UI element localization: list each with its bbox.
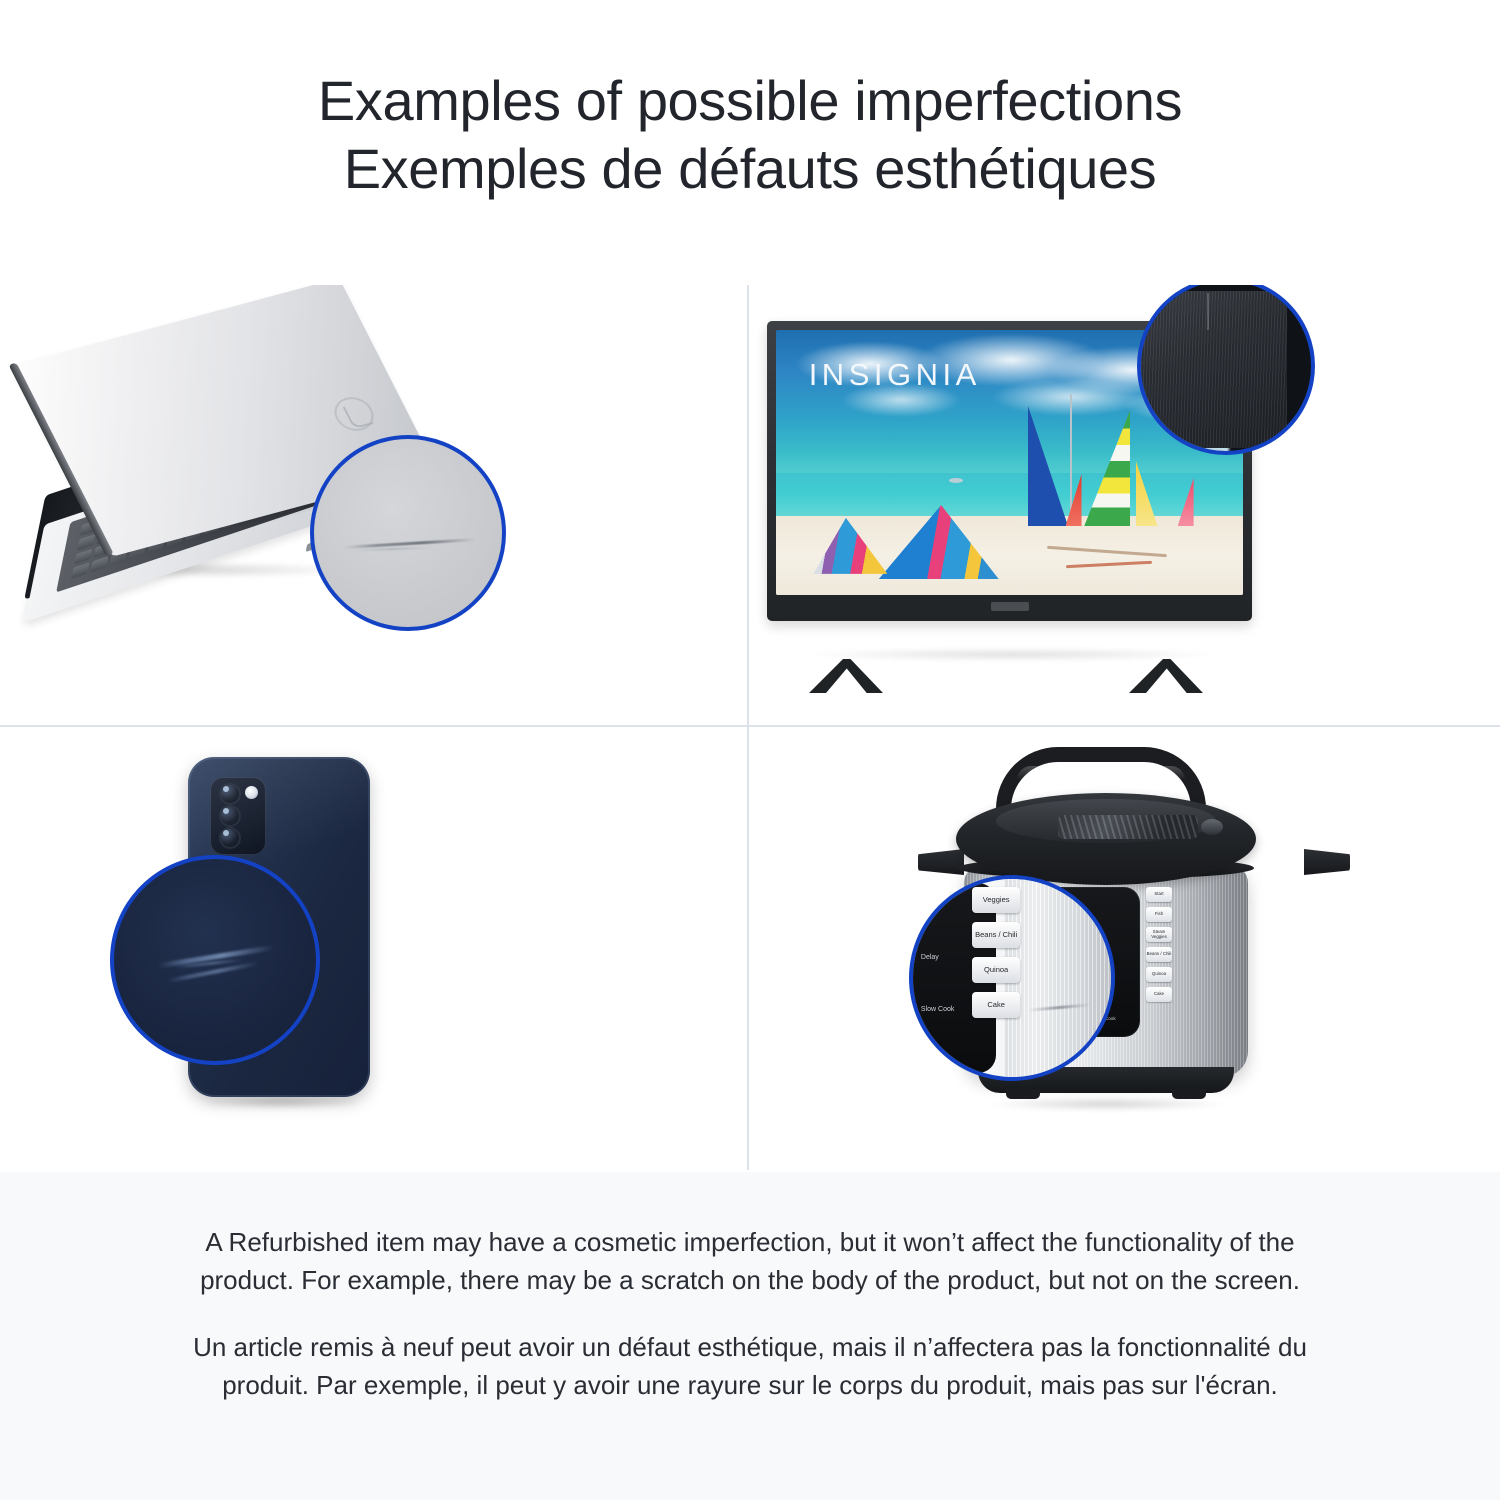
cooker-magnified-label-slow-cook: Slow Cook (921, 1006, 954, 1013)
page-header: Examples of possible imperfections Exemp… (0, 0, 1500, 270)
page-title-en: Examples of possible imperfections (318, 67, 1182, 135)
cooker-magnified-button-beans-chili[interactable]: Beans / Chili (972, 922, 1020, 948)
cooker-side-ear-right (1304, 849, 1350, 875)
cooker-right-button-column: Start Fish Steam Veggies Beans / Chili Q… (1146, 887, 1172, 1002)
magnifier-tv-bezel (1137, 285, 1315, 455)
magnifier-cooker-scratch: Delay Slow Cook Veggies Beans / Chili Qu… (909, 875, 1115, 1081)
camera-lens-1-icon (219, 783, 241, 805)
tv-magnified-bezel-corner (1137, 291, 1287, 447)
examples-grid: INSIGNIA (0, 285, 1500, 1170)
disclaimer-en: A Refurbished item may have a cosmetic i… (185, 1224, 1315, 1299)
cooker-lid-dome (996, 799, 1216, 843)
cell-pressure-cooker: Cancel Rice Multi Grain Soup Slow Cook P… (749, 727, 1500, 1170)
cooker-feet (1006, 1089, 1206, 1099)
disclaimer-fr: Un article remis à neuf peut avoir un dé… (185, 1329, 1315, 1404)
magnifier-phone-scratches (110, 855, 320, 1065)
tv-shadow (807, 648, 1217, 661)
cooker-magnified-label-delay: Delay (921, 954, 939, 961)
tv-sail-foreground-blue (879, 505, 999, 579)
tv-sail-pink (1178, 478, 1194, 526)
tv-foot-right (1129, 659, 1203, 693)
cooker-button-start[interactable]: Start (1146, 887, 1172, 902)
cell-laptop (0, 285, 747, 725)
tv-foot-left (809, 659, 883, 693)
tv-sail-yellow (1136, 460, 1158, 526)
cooker-button-cake[interactable]: Cake (1146, 987, 1172, 1002)
tv-sail-red (1066, 474, 1082, 526)
cooker-shadow (989, 1097, 1224, 1111)
cooker-lid-vent-plate (1058, 815, 1198, 839)
cell-smartphone (0, 727, 747, 1170)
cooker-magnified-button-quinoa[interactable]: Quinoa (972, 957, 1020, 983)
phone-shadow (202, 1095, 360, 1109)
cooker-button-beans-chili[interactable]: Beans / Chili (1146, 947, 1172, 962)
camera-lens-3-icon (219, 827, 241, 849)
cooker-magnified-button-veggies[interactable]: Veggies (972, 887, 1020, 913)
cooker-pressure-valve-icon (1201, 819, 1223, 835)
cooker-magnified-button-column: Veggies Beans / Chili Quinoa Cake (972, 887, 1020, 1018)
phone-camera-module (210, 777, 266, 855)
phone-stage (0, 727, 747, 1170)
cooker-stage: Cancel Rice Multi Grain Soup Slow Cook P… (749, 727, 1500, 1170)
tv-brand-logo: INSIGNIA (809, 357, 981, 393)
cooker-lid (956, 793, 1256, 885)
refurbished-imperfections-infographic: Examples of possible imperfections Exemp… (0, 0, 1500, 1500)
cell-television: INSIGNIA (749, 285, 1496, 725)
tv-sail-foreground-multi (813, 518, 887, 574)
cooker-button-steam-veggies[interactable]: Steam Veggies (1146, 927, 1172, 942)
tv-scene-sea (776, 473, 1243, 521)
camera-flash-icon (245, 786, 258, 799)
cooker-button-fish[interactable]: Fish (1146, 907, 1172, 922)
cooker-side-ear-left (918, 849, 964, 875)
camera-lens-2-icon (219, 805, 241, 827)
cooker-magnified-button-cake[interactable]: Cake (972, 992, 1020, 1018)
magnifier-laptop-scratch (310, 435, 506, 631)
tv-stage: INSIGNIA (749, 285, 1496, 725)
tv-bottom-logo-nub (991, 602, 1029, 611)
footer-disclaimer: A Refurbished item may have a cosmetic i… (0, 1172, 1500, 1500)
tv-sail-blue (1028, 406, 1068, 526)
tv-sail-green (1084, 410, 1130, 526)
tv-bezel-seam-icon (1207, 293, 1209, 330)
page-title-fr: Exemples de défauts esthétiques (344, 135, 1157, 203)
cooker-button-quinoa[interactable]: Quinoa (1146, 967, 1172, 982)
cooker-magnified-stainless (1004, 879, 1111, 1077)
laptop-stage (0, 285, 747, 725)
